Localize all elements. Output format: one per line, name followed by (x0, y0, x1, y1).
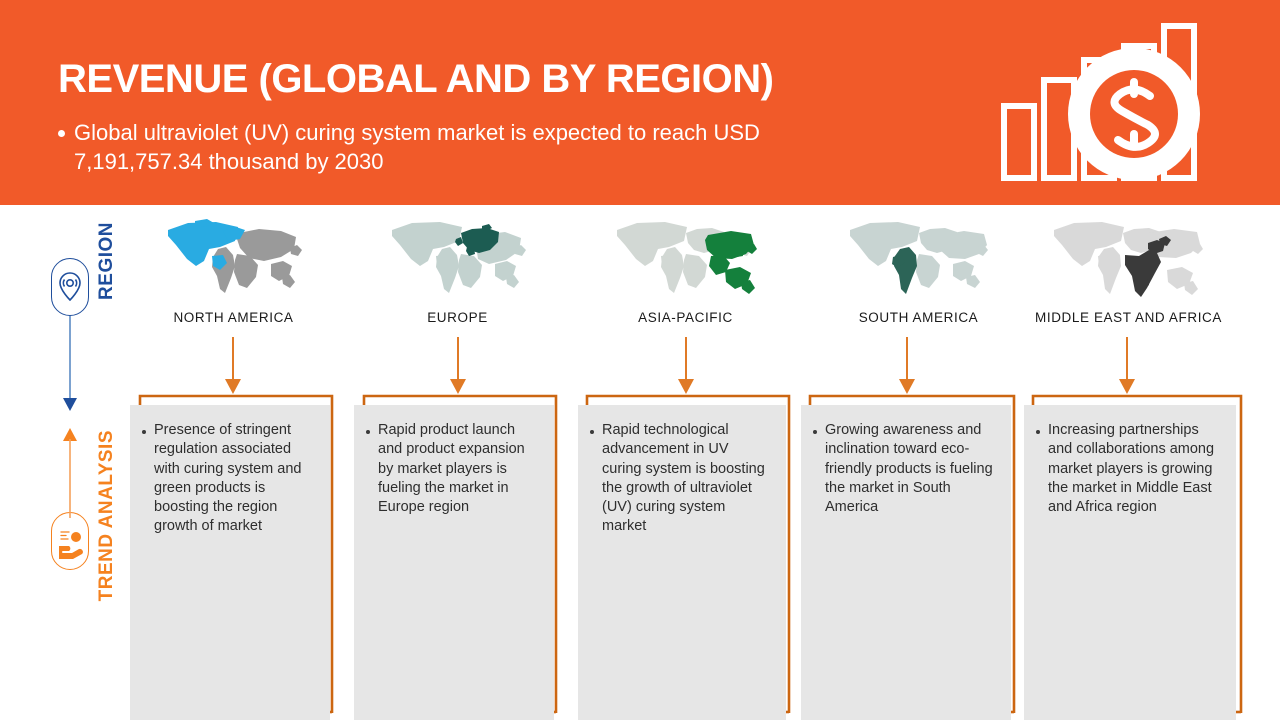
axis-label-trend-analysis: TREND ANALYSIS (96, 430, 118, 601)
infographic-page: REVENUE (GLOBAL AND BY REGION) Global ul… (0, 0, 1280, 720)
region-column-europe: EUROPE (376, 218, 539, 325)
trend-text: Increasing partnerships and collaboratio… (1048, 421, 1222, 517)
world-map-north-america-highlighted (152, 218, 315, 298)
region-label: EUROPE (376, 310, 539, 325)
connector-arrow-europe (447, 337, 469, 395)
region-axis-arrow-down (60, 316, 82, 414)
region-column-north-america: NORTH AMERICA (152, 218, 315, 325)
bullet-dot-icon (58, 130, 65, 137)
trend-box-north-america: Presence of stringent regulation associa… (130, 405, 330, 720)
region-column-asia-pacific: ASIA-PACIFIC (604, 218, 767, 325)
bullet-dot-icon (1036, 430, 1040, 434)
region-label: SOUTH AMERICA (837, 310, 1000, 325)
location-pin-icon (51, 258, 89, 316)
trend-box-middle-east-africa: Increasing partnerships and collaboratio… (1024, 405, 1236, 720)
header-bullet: Global ultraviolet (UV) curing system ma… (58, 118, 888, 177)
axis-label-region: REGION (96, 222, 118, 300)
connector-arrow-middle-east-africa (1116, 337, 1138, 395)
world-map-south-america-highlighted (837, 218, 1000, 298)
trend-axis-arrow-up (60, 428, 82, 518)
region-label: ASIA-PACIFIC (604, 310, 767, 325)
world-map-middle-east-africa-highlighted (1035, 218, 1220, 298)
bullet-dot-icon (813, 430, 817, 434)
bar-chart-dollar-icon (990, 18, 1210, 190)
connector-arrow-asia-pacific (675, 337, 697, 395)
region-label: MIDDLE EAST AND AFRICA (1035, 310, 1220, 325)
header-bullet-text: Global ultraviolet (UV) curing system ma… (74, 118, 888, 177)
trend-box-south-america: Growing awareness and inclination toward… (801, 405, 1011, 720)
world-map-europe-highlighted (376, 218, 539, 298)
trend-box-asia-pacific: Rapid technological advancement in UV cu… (578, 405, 786, 720)
header-banner: REVENUE (GLOBAL AND BY REGION) Global ul… (0, 0, 1280, 205)
trend-text: Rapid technological advancement in UV cu… (602, 421, 772, 537)
trend-text: Presence of stringent regulation associa… (154, 421, 316, 537)
region-label: NORTH AMERICA (152, 310, 315, 325)
bullet-dot-icon (366, 430, 370, 434)
region-column-middle-east-africa: MIDDLE EAST AND AFRICA (1035, 218, 1220, 325)
connector-arrow-south-america (896, 337, 918, 395)
connector-arrow-north-america (222, 337, 244, 395)
region-column-south-america: SOUTH AMERICA (837, 218, 1000, 325)
hand-holding-chart-icon (51, 512, 89, 570)
bullet-dot-icon (142, 430, 146, 434)
bullet-dot-icon (590, 430, 594, 434)
world-map-asia-pacific-highlighted (604, 218, 767, 298)
page-title: REVENUE (GLOBAL AND BY REGION) (58, 58, 773, 100)
trend-text: Growing awareness and inclination toward… (825, 421, 997, 517)
trend-box-europe: Rapid product launch and product expansi… (354, 405, 554, 720)
trend-text: Rapid product launch and product expansi… (378, 421, 540, 517)
